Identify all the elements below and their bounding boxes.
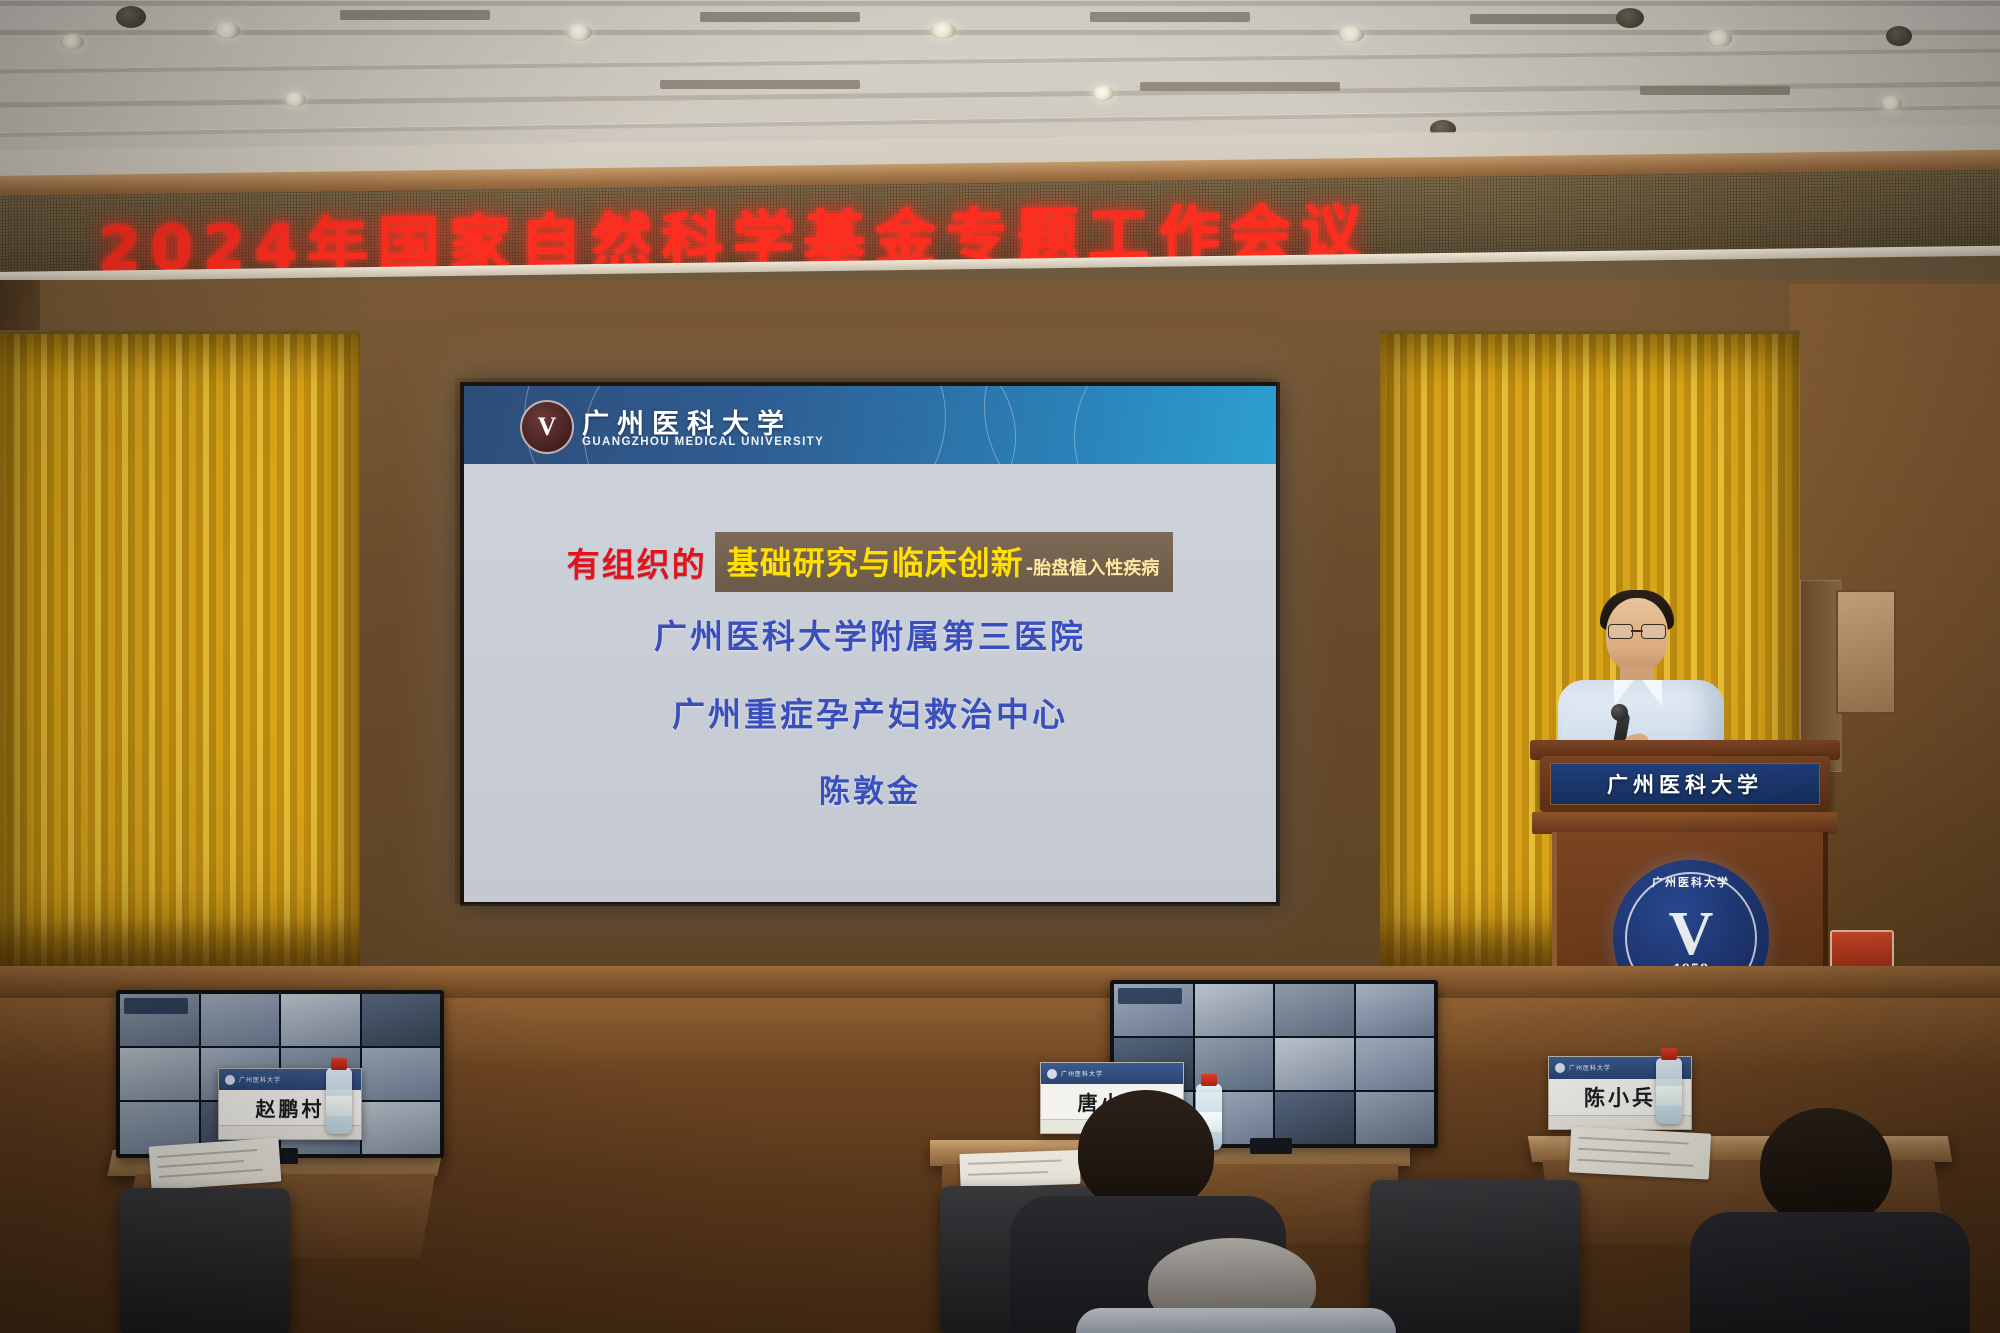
- ceiling-speaker-icon: [1886, 26, 1912, 46]
- ceiling-vent: [340, 10, 490, 20]
- slide-title-main: 基础研究与临床创新: [727, 538, 1024, 584]
- wall-board: [1836, 590, 1896, 714]
- crest-mark: V: [538, 414, 557, 440]
- audience-head: [1078, 1090, 1214, 1212]
- ceiling-downlight: [284, 92, 306, 107]
- slide-header: V 广州医科大学 GUANGZHOU MEDICAL UNIVERSITY: [464, 386, 1276, 464]
- ceiling-downlight: [214, 22, 240, 39]
- speaker-collar: [1642, 680, 1662, 706]
- university-crest-icon: V: [520, 400, 574, 454]
- slide-title-row: 有组织的 基础研究与临床创新 -胎盘植入性疾病: [464, 532, 1276, 592]
- conference-hall-photo: 2024年国家自然科学基金专题工作会议 V 广州医科大学 GUANGZHOU M…: [0, 0, 2000, 1333]
- ceiling-vent: [700, 12, 860, 22]
- slide-body-line-2: 广州重症孕产妇救治中心: [464, 688, 1276, 736]
- ceiling-beam: [0, 0, 2000, 6]
- presentation-slide: V 广州医科大学 GUANGZHOU MEDICAL UNIVERSITY 有组…: [464, 386, 1276, 902]
- slide-body-presenter: 陈敦金: [464, 766, 1276, 811]
- podium-plaque-text: 广州医科大学: [1607, 769, 1763, 799]
- nameplate-logo-icon: [225, 1075, 235, 1085]
- nameplate-logo-icon: [1047, 1069, 1057, 1079]
- ceiling-beam: [0, 48, 2000, 74]
- bottle-cap: [331, 1058, 347, 1070]
- paper-documents: [149, 1138, 282, 1191]
- slide-title-sub: -胎盘植入性疾病: [1026, 554, 1159, 580]
- nameplate-org: 广州医科大学: [1061, 1069, 1103, 1078]
- ceiling-downlight: [1338, 26, 1364, 43]
- ceiling-speaker-icon: [1616, 8, 1644, 28]
- bottle-label: [326, 1096, 352, 1116]
- slide-title-prefix: 有组织的: [567, 538, 707, 586]
- ceiling-vent: [1470, 14, 1620, 24]
- water-bottle: [1656, 1058, 1682, 1124]
- nameplate-header: 广州医科大学: [1041, 1063, 1183, 1084]
- video-tile-label: [124, 998, 188, 1014]
- podium-plaque-inner: 广州医科大学: [1550, 763, 1820, 805]
- nameplate-logo-icon: [1555, 1063, 1565, 1073]
- nameplate-org: 广州医科大学: [1569, 1063, 1611, 1072]
- paper-documents: [1569, 1126, 1711, 1179]
- bottle-cap: [1201, 1074, 1217, 1086]
- podium-plaque: 广州医科大学: [1540, 756, 1830, 812]
- slide-body: 广州医科大学附属第三医院 广州重症孕产妇救治中心 陈敦金: [464, 610, 1276, 811]
- water-bottle: [326, 1068, 352, 1134]
- slide-body-line-1: 广州医科大学附属第三医院: [464, 610, 1276, 658]
- bottle-label: [1656, 1086, 1682, 1106]
- ceiling-downlight: [60, 34, 84, 50]
- stage-curtain-left: [0, 334, 360, 974]
- eyeglasses-icon: [1608, 624, 1666, 637]
- audience-head: [1760, 1108, 1892, 1226]
- ceiling-downlight: [1880, 96, 1902, 111]
- emblem-mark: V: [1669, 903, 1714, 965]
- ceiling-downlight: [1706, 30, 1732, 47]
- decorative-swirl: [1074, 386, 1276, 464]
- slide-title-highlight: 基础研究与临床创新 -胎盘植入性疾病: [715, 532, 1174, 592]
- microphone-head-icon: [1611, 704, 1628, 721]
- ceiling-speaker-icon: [116, 6, 146, 28]
- projection-screen: V 广州医科大学 GUANGZHOU MEDICAL UNIVERSITY 有组…: [460, 382, 1280, 906]
- nameplate-org: 广州医科大学: [239, 1075, 281, 1084]
- podium-shelf: [1532, 812, 1838, 834]
- ceiling-strip: [0, 30, 2000, 35]
- chair: [1370, 1180, 1580, 1333]
- ceiling-downlight: [930, 22, 956, 39]
- ceiling-vent: [1140, 82, 1340, 91]
- ceiling-downlight: [1092, 86, 1114, 101]
- ceiling-vent: [1640, 86, 1790, 95]
- chair: [120, 1188, 290, 1333]
- audience-shoulders: [1690, 1212, 1970, 1333]
- ceiling-downlight: [566, 24, 592, 41]
- ceiling-vent: [660, 80, 860, 89]
- audience-shoulders-front: [1076, 1308, 1396, 1333]
- slide-header-en: GUANGZHOU MEDICAL UNIVERSITY: [582, 436, 824, 448]
- paper-documents: [959, 1150, 1080, 1188]
- ceiling-vent: [1090, 12, 1250, 22]
- monitor-right-stand: [1250, 1138, 1292, 1154]
- bottle-cap: [1661, 1048, 1677, 1060]
- video-tile-label: [1118, 988, 1182, 1004]
- emblem-cn-text: 广州医科大学: [1613, 874, 1769, 890]
